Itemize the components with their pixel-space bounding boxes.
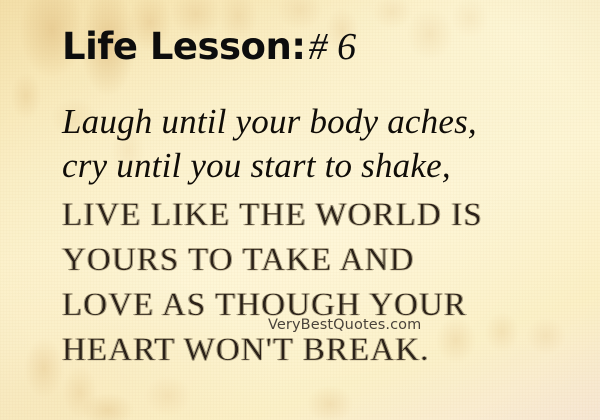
quote-caps-line-2: YOURS TO TAKE AND bbox=[62, 244, 415, 277]
quote-poster: Life Lesson:# 6 Laugh until your body ac… bbox=[0, 0, 600, 420]
quote-caps-line-1: LIVE LIKE THE WORLD IS bbox=[62, 199, 483, 232]
quote-caps-line-4: HEART WON'T BREAK. bbox=[62, 334, 430, 367]
poster-content: Life Lesson:# 6 Laugh until your body ac… bbox=[0, 0, 600, 420]
site-watermark: VeryBestQuotes.com bbox=[268, 318, 421, 333]
page-title: Life Lesson:# 6 bbox=[62, 28, 356, 66]
title-label: Life Lesson: bbox=[62, 25, 306, 68]
quote-italic-line-1: Laugh until your body aches, bbox=[62, 104, 477, 139]
quote-italic-line-2: cry until you start to shake, bbox=[62, 148, 451, 183]
lesson-number: # 6 bbox=[306, 26, 357, 68]
